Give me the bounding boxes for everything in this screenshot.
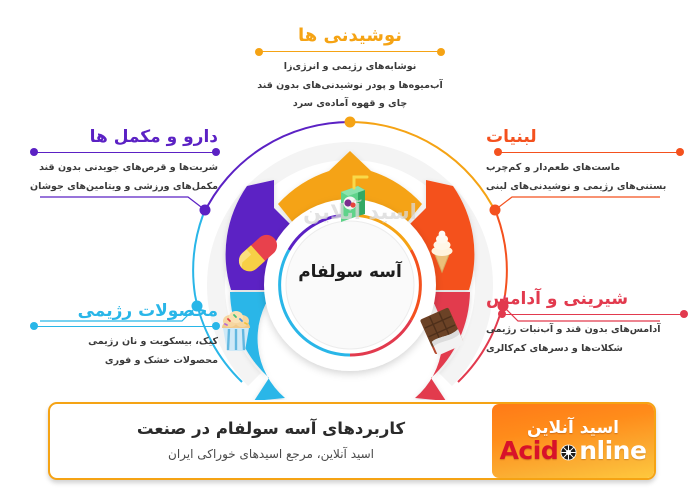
cupcake-icon: [222, 311, 250, 351]
callout-drinks-title: نوشیدنی ها: [250, 26, 450, 46]
callout-diet[interactable]: محصولات رژیمی کیک، بیسکویت و نان رژیمی م…: [22, 302, 218, 370]
brand-logo-en-acid: Acid: [500, 438, 559, 463]
callout-drinks[interactable]: نوشیدنی ها نوشابه‌های رژیمی و انرژی‌زا آ…: [250, 26, 450, 114]
footer-bar: اسید آنلاین Acid: [48, 402, 656, 480]
gear-icon: [559, 441, 578, 460]
list-item: شکلات‌ها و دسرهای کم‌کالری: [486, 340, 686, 359]
center-label: آسه سولفام: [285, 262, 415, 282]
list-item: آب‌میوه‌ها و پودر نوشیدنی‌های بدون قند: [250, 77, 450, 96]
callout-drinks-items: نوشابه‌های رژیمی و انرژی‌زا آب‌میوه‌ها و…: [250, 58, 450, 114]
footer-title: کاربردهای آسه سولفام در صنعت: [137, 419, 405, 438]
arc-dairy: [497, 215, 507, 295]
callout-pharma[interactable]: دارو و مکمل ها شربت‌ها و قرص‌های جویدنی …: [22, 128, 218, 196]
list-item: محصولات خشک و فوری: [22, 352, 218, 371]
footer-subtitle: اسید آنلاین، مرجع اسیدهای خوراکی ایران: [168, 447, 374, 461]
list-item: کیک، بیسکویت و نان رژیمی: [22, 333, 218, 352]
list-item: آدامس‌های بدون قند و آب‌نبات رژیمی: [486, 321, 686, 340]
brand-logo-fa: اسید آنلاین: [527, 420, 619, 437]
list-item: نوشابه‌های رژیمی و انرژی‌زا: [250, 58, 450, 77]
dot-pharma: [200, 205, 211, 216]
callout-dairy[interactable]: لبنیات ماست‌های طعم‌دار و کم‌چرب بستنی‌ه…: [486, 128, 682, 196]
callout-pharma-items: شربت‌ها و قرص‌های جویدنی بدون قند مکمل‌ه…: [22, 159, 218, 196]
callout-dairy-items: ماست‌های طعم‌دار و کم‌چرب بستنی‌های رژیم…: [486, 159, 682, 196]
hub-inner: [286, 221, 414, 349]
callout-pharma-rule: [32, 152, 218, 154]
brand-logo-en-online: nline: [579, 438, 646, 463]
list-item: مکمل‌های ورزشی و ویتامین‌های جوشان: [22, 178, 218, 197]
callout-dairy-rule: [496, 152, 682, 154]
dot-top: [345, 117, 356, 128]
dot-dairy: [490, 205, 501, 216]
callout-drinks-rule: [257, 51, 443, 53]
segmented-wheel: [175, 110, 525, 400]
callout-diet-rule: [32, 326, 218, 328]
callout-pharma-title: دارو و مکمل ها: [22, 128, 218, 147]
callout-sweets-title: شیرینی و آدامس: [486, 290, 686, 309]
callout-sweets-rule: [500, 314, 686, 316]
list-item: چای و قهوه آماده‌ی سرد: [250, 95, 450, 114]
list-item: شربت‌ها و قرص‌های جویدنی بدون قند: [22, 159, 218, 178]
callout-diet-items: کیک، بیسکویت و نان رژیمی محصولات خشک و ف…: [22, 333, 218, 370]
arc-diet-upper: [193, 215, 203, 295]
callout-dairy-title: لبنیات: [486, 128, 682, 147]
callout-sweets-items: آدامس‌های بدون قند و آب‌نبات رژیمی شکلات…: [486, 321, 686, 358]
brand-logo[interactable]: اسید آنلاین Acid: [492, 404, 654, 478]
list-item: بستنی‌های رژیمی و نوشیدنی‌های لبنی: [486, 178, 682, 197]
callout-diet-title: محصولات رژیمی: [22, 302, 218, 321]
callout-sweets[interactable]: شیرینی و آدامس آدامس‌های بدون قند و آب‌ن…: [486, 290, 686, 358]
list-item: ماست‌های طعم‌دار و کم‌چرب: [486, 159, 682, 178]
footer-text: کاربردهای آسه سولفام در صنعت اسید آنلاین…: [50, 404, 492, 478]
brand-logo-en: Acid nline: [500, 438, 647, 463]
infographic-canvas: آسه سولفام اسید آنلاین نوشیدنی ها نوشابه…: [0, 0, 700, 500]
